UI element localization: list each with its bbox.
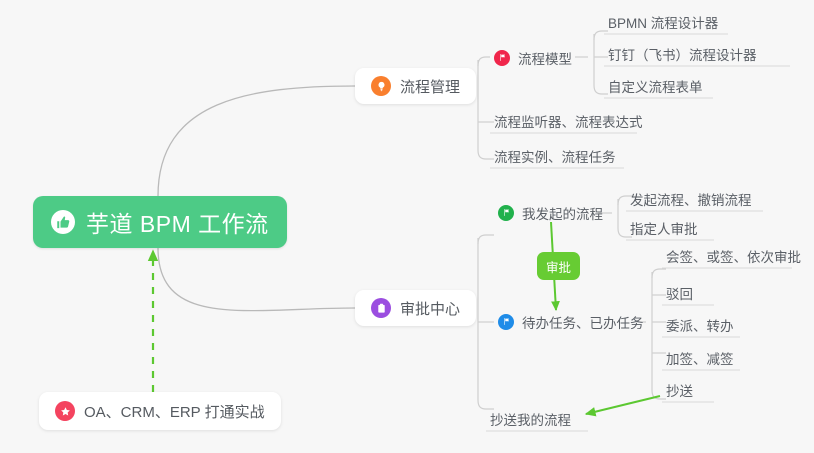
link-ac-cap-top	[478, 235, 494, 244]
leaf-reject-label: 驳回	[666, 283, 693, 303]
leaf-delegate-transfer[interactable]: 委派、转办	[662, 311, 740, 338]
leaf-start-cancel-process[interactable]: 发起流程、撤销流程	[626, 185, 758, 212]
node-my-initiated-process-label: 我发起的流程	[522, 203, 603, 223]
leaf-cc-to-me-process[interactable]: 抄送我的流程	[486, 405, 577, 432]
star-icon	[55, 401, 75, 421]
bottom-callout-node[interactable]: OA、CRM、ERP 打通实战	[39, 392, 281, 430]
leaf-countersign-orsign-sequential[interactable]: 会签、或签、依次审批	[662, 242, 807, 269]
root-label: 芋道 BPM 工作流	[86, 205, 269, 239]
leaf-countersign-orsign-sequential-label: 会签、或签、依次审批	[666, 246, 801, 266]
leaf-cc-label: 抄送	[666, 380, 693, 400]
leaf-custom-process-form[interactable]: 自定义流程表单	[604, 72, 709, 99]
arrow-cc-to-process	[586, 396, 660, 414]
leaf-delegate-transfer-label: 委派、转办	[666, 315, 734, 335]
leaf-dingtalk-feishu-designer-label: 钉钉（飞书）流程设计器	[608, 44, 757, 64]
leaf-assigned-approver[interactable]: 指定人审批	[626, 214, 704, 241]
flag-icon	[498, 314, 514, 330]
leaf-add-remove-sign-label: 加签、减签	[666, 348, 734, 368]
clipboard-icon	[371, 298, 391, 318]
thumbs-up-icon	[51, 210, 75, 234]
branch-approval-center-label: 审批中心	[400, 298, 460, 319]
branch-approval-center[interactable]: 审批中心	[355, 290, 476, 326]
leaf-cc[interactable]: 抄送	[662, 376, 699, 403]
leaf-process-instance-task[interactable]: 流程实例、流程任务	[490, 142, 622, 169]
leaf-bpmn-designer[interactable]: BPMN 流程设计器	[604, 8, 724, 35]
root-node[interactable]: 芋道 BPM 工作流	[33, 196, 287, 248]
leaf-assigned-approver-label: 指定人审批	[630, 218, 698, 238]
node-my-initiated-process[interactable]: 我发起的流程	[494, 199, 609, 226]
leaf-cc-to-me-process-label: 抄送我的流程	[490, 409, 571, 429]
mindmap-canvas: 芋道 BPM 工作流 流程管理 流程模型 BPMN 流程设计器 钉钉（飞书）流程…	[0, 0, 814, 453]
leaf-dingtalk-feishu-designer[interactable]: 钉钉（飞书）流程设计器	[604, 40, 763, 67]
approval-badge-label: 审批	[546, 257, 571, 276]
leaf-process-listener-expression-label: 流程监听器、流程表达式	[494, 111, 643, 131]
branch-process-management-label: 流程管理	[400, 76, 460, 97]
leaf-start-cancel-process-label: 发起流程、撤销流程	[630, 189, 752, 209]
approval-badge[interactable]: 审批	[537, 252, 580, 280]
leaf-process-listener-expression[interactable]: 流程监听器、流程表达式	[490, 107, 649, 134]
lightbulb-pin-icon	[371, 76, 391, 96]
bottom-callout-label: OA、CRM、ERP 打通实战	[84, 401, 265, 422]
link-pm-spine-cap-top	[478, 57, 490, 66]
node-process-model-label: 流程模型	[518, 48, 572, 68]
leaf-reject[interactable]: 驳回	[662, 279, 699, 306]
leaf-custom-process-form-label: 自定义流程表单	[608, 76, 703, 96]
link-root-to-approval-center	[158, 248, 355, 311]
leaf-bpmn-designer-label: BPMN 流程设计器	[608, 12, 718, 32]
leaf-add-remove-sign[interactable]: 加签、减签	[662, 344, 740, 371]
flag-icon	[494, 50, 510, 66]
link-root-to-process-management	[158, 86, 355, 196]
link-todo-cap-top	[652, 269, 666, 278]
node-todo-done-tasks-label: 待办任务、已办任务	[522, 312, 644, 332]
flag-icon	[498, 205, 514, 221]
branch-process-management[interactable]: 流程管理	[355, 68, 476, 104]
node-todo-done-tasks[interactable]: 待办任务、已办任务	[494, 308, 650, 335]
leaf-process-instance-task-label: 流程实例、流程任务	[494, 146, 616, 166]
node-process-model[interactable]: 流程模型	[490, 44, 578, 71]
